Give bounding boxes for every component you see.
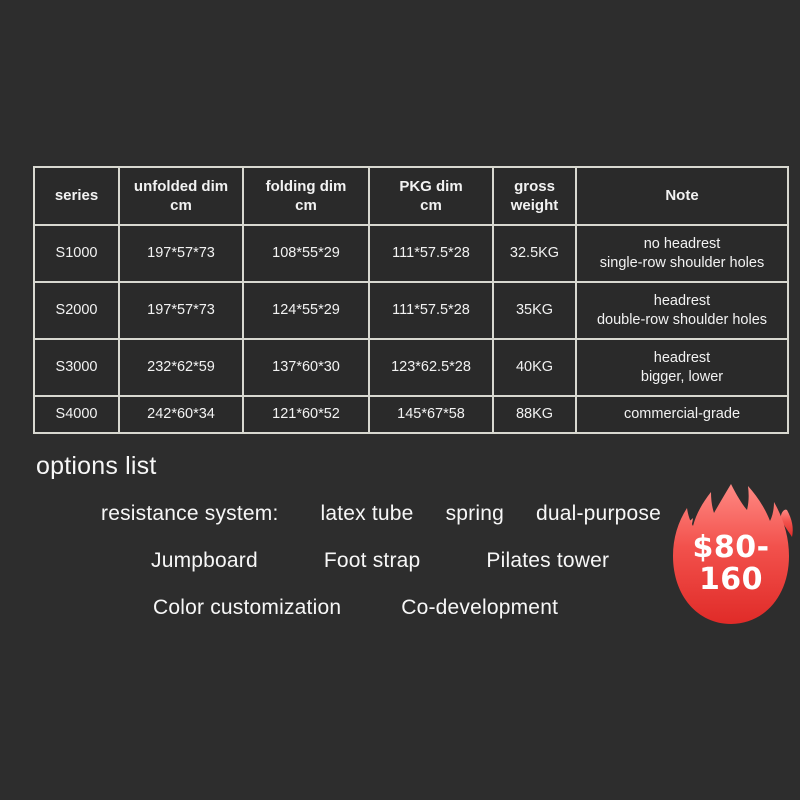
flame-icon (663, 474, 799, 646)
cell-folding-dim: 137*60*30 (244, 340, 368, 395)
option-foot-strap[interactable]: Foot strap (324, 549, 421, 573)
cell-unfolded-dim: 232*62*59 (120, 340, 242, 395)
cell-pkg-dim: 111*57.5*28 (370, 283, 492, 338)
cell-gross-weight: 32.5KG (494, 226, 575, 281)
options-row-customization: Color customization Co-development (153, 596, 558, 620)
option-spring[interactable]: spring (446, 502, 504, 526)
cell-note-line2: bigger, lower (580, 368, 784, 387)
cell-gross-weight: 35KG (494, 283, 575, 338)
cell-note: headrest double-row shoulder holes (577, 283, 787, 338)
cell-pkg-dim: 145*67*58 (370, 397, 492, 432)
option-jumpboard[interactable]: Jumpboard (151, 549, 258, 573)
option-dual-purpose[interactable]: dual-purpose (536, 502, 661, 526)
cell-note-line2: double-row shoulder holes (580, 311, 784, 330)
column-header-pkg-dim: PKG dim cm (370, 168, 492, 224)
table-row: S3000 232*62*59 137*60*30 123*62.5*28 40… (35, 340, 787, 395)
option-pilates-tower[interactable]: Pilates tower (486, 549, 609, 573)
options-row-resistance-system: resistance system: latex tube spring dua… (101, 502, 661, 526)
column-header-folding-dim-main: folding dim (266, 178, 347, 195)
option-color-customization[interactable]: Color customization (153, 596, 341, 620)
cell-note-line1: headrest (580, 292, 784, 311)
option-co-development[interactable]: Co-development (401, 596, 558, 620)
column-header-folding-dim-unit: cm (247, 196, 365, 215)
spec-table-body: S1000 197*57*73 108*55*29 111*57.5*28 32… (35, 226, 787, 432)
column-header-series-main: series (55, 187, 98, 204)
table-header-row: series unfolded dim cm folding dim cm PK… (35, 168, 787, 224)
column-header-unfolded-dim: unfolded dim cm (120, 168, 242, 224)
column-header-note-main: Note (665, 187, 698, 204)
column-header-note: Note (577, 168, 787, 224)
cell-note: no headrest single-row shoulder holes (577, 226, 787, 281)
price-badge[interactable]: $80- 160 (663, 474, 799, 646)
option-label-resistance-system: resistance system: (101, 502, 279, 526)
cell-gross-weight: 40KG (494, 340, 575, 395)
cell-series: S3000 (35, 340, 118, 395)
cell-pkg-dim: 123*62.5*28 (370, 340, 492, 395)
option-latex-tube[interactable]: latex tube (321, 502, 414, 526)
table-row: S2000 197*57*73 124*55*29 111*57.5*28 35… (35, 283, 787, 338)
cell-unfolded-dim: 242*60*34 (120, 397, 242, 432)
table-row: S1000 197*57*73 108*55*29 111*57.5*28 32… (35, 226, 787, 281)
spec-table-head: series unfolded dim cm folding dim cm PK… (35, 168, 787, 224)
cell-note: headrest bigger, lower (577, 340, 787, 395)
cell-note-line1: no headrest (580, 235, 784, 254)
cell-note-line1: headrest (580, 349, 784, 368)
cell-folding-dim: 124*55*29 (244, 283, 368, 338)
column-header-unfolded-dim-main: unfolded dim (134, 178, 228, 195)
product-spec-page: SENDIAN series unfolded dim cm (0, 0, 800, 800)
options-row-accessories: Jumpboard Foot strap Pilates tower (151, 549, 609, 573)
cell-folding-dim: 108*55*29 (244, 226, 368, 281)
column-header-series: series (35, 168, 118, 224)
column-header-gross-weight: gross weight (494, 168, 575, 224)
column-header-gross-weight-main: gross (514, 178, 555, 195)
cell-folding-dim: 121*60*52 (244, 397, 368, 432)
spec-table: series unfolded dim cm folding dim cm PK… (33, 166, 789, 434)
options-list-title: options list (36, 452, 157, 481)
cell-series: S2000 (35, 283, 118, 338)
cell-unfolded-dim: 197*57*73 (120, 226, 242, 281)
cell-unfolded-dim: 197*57*73 (120, 283, 242, 338)
cell-note: commercial-grade (577, 397, 787, 432)
cell-note-line2: single-row shoulder holes (580, 254, 784, 273)
cell-series: S1000 (35, 226, 118, 281)
column-header-unfolded-dim-unit: cm (123, 196, 239, 215)
spec-table-container: series unfolded dim cm folding dim cm PK… (33, 166, 775, 434)
column-header-pkg-dim-unit: cm (373, 196, 489, 215)
table-row: S4000 242*60*34 121*60*52 145*67*58 88KG… (35, 397, 787, 432)
cell-note-line1: commercial-grade (580, 405, 784, 424)
column-header-gross-weight-sub: weight (497, 196, 572, 215)
cell-pkg-dim: 111*57.5*28 (370, 226, 492, 281)
column-header-folding-dim: folding dim cm (244, 168, 368, 224)
cell-gross-weight: 88KG (494, 397, 575, 432)
cell-series: S4000 (35, 397, 118, 432)
column-header-pkg-dim-main: PKG dim (399, 178, 462, 195)
